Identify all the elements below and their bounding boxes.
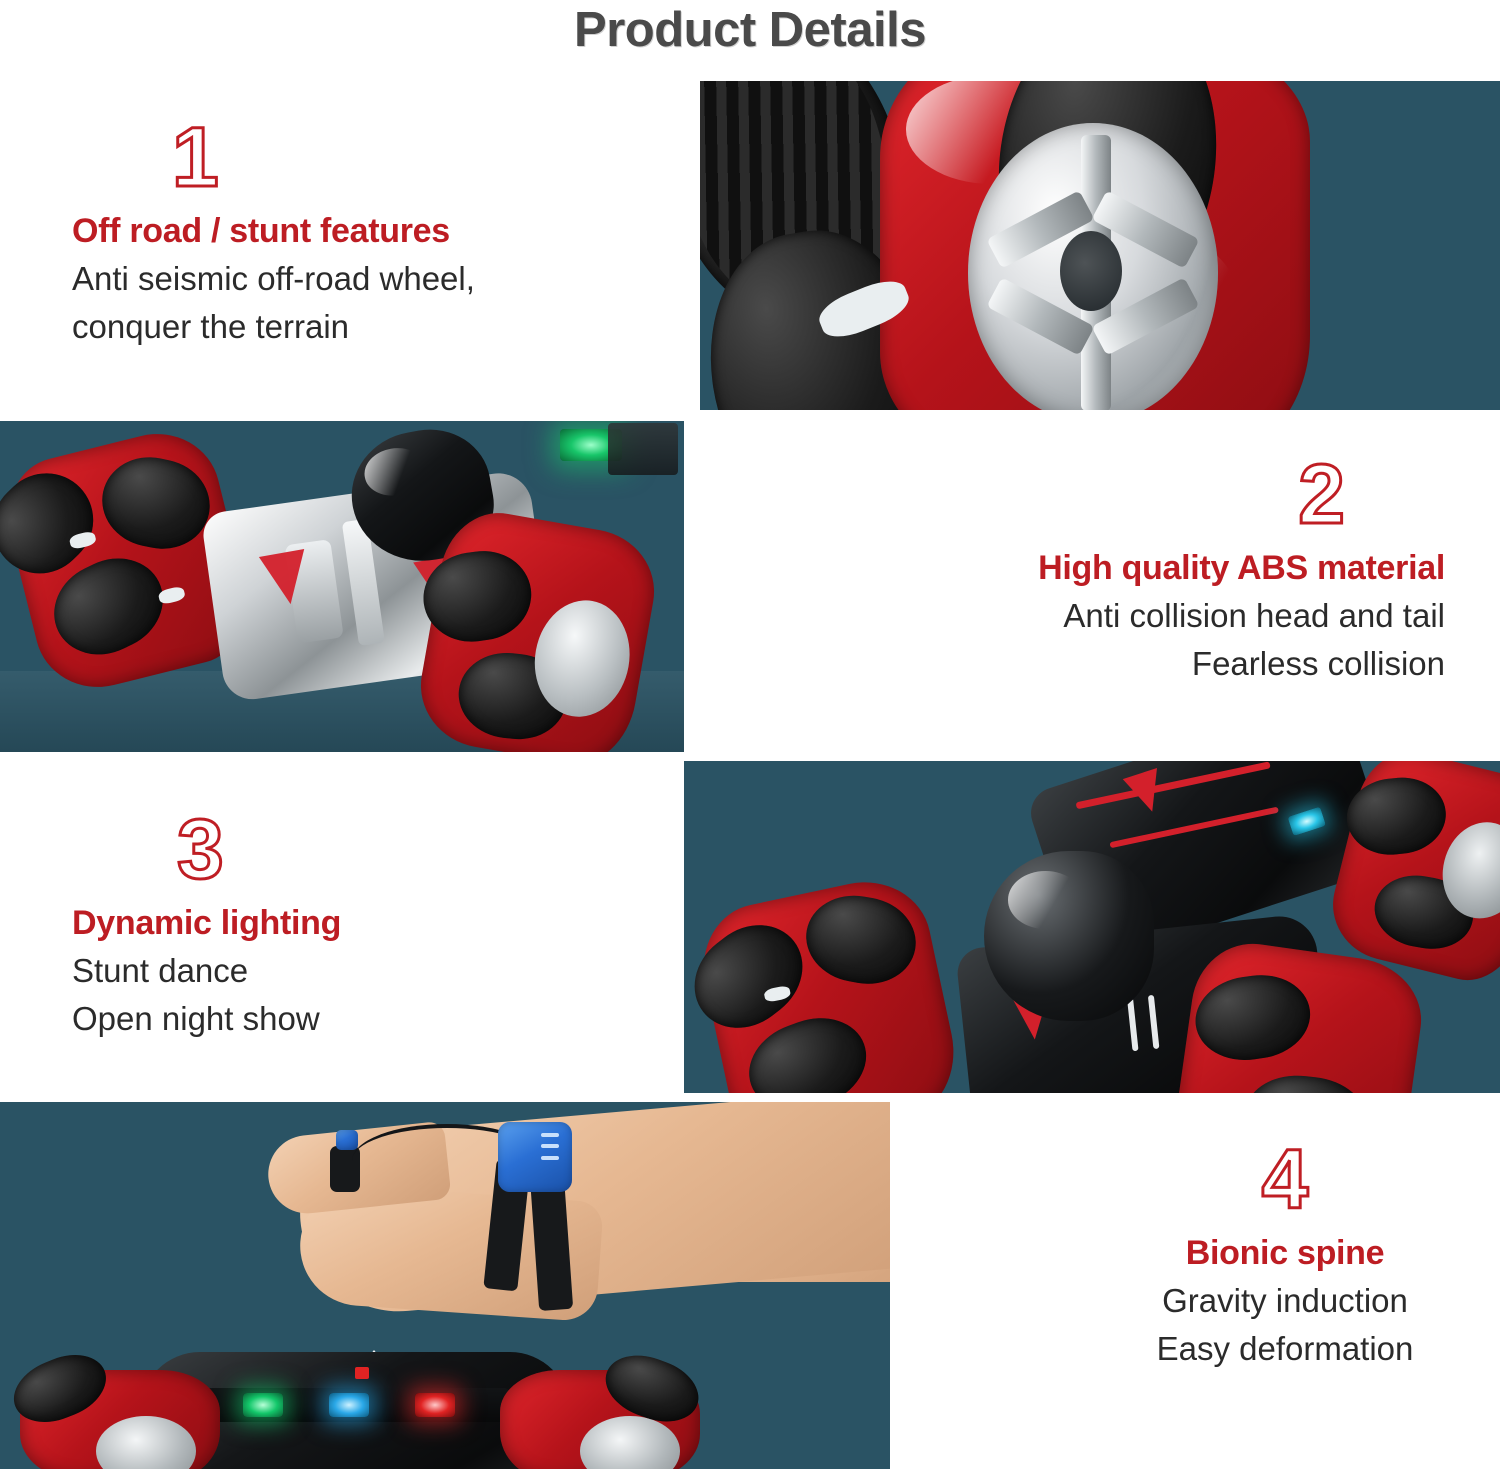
hub-center-cap — [1060, 231, 1122, 311]
white-stripe-decal — [1126, 997, 1138, 1051]
photo-wheel-closeup — [700, 81, 1500, 410]
red-arrow-decal — [1123, 768, 1170, 817]
feature-line-4-2: Easy deformation — [1085, 1329, 1485, 1369]
module-line — [541, 1156, 559, 1160]
led-red-top — [355, 1367, 369, 1379]
dome-highlight — [1008, 871, 1083, 929]
led-indicator-cyan — [1288, 806, 1327, 836]
module-line — [541, 1144, 559, 1148]
feature-heading-4: Bionic spine — [1085, 1234, 1485, 1273]
wheel-roller — [4, 1343, 115, 1434]
feature-heading-3: Dynamic lighting — [72, 904, 502, 943]
feature-number-1: 1 — [172, 118, 632, 198]
wheel-roller — [93, 448, 217, 558]
feature-line-1-1: Anti seismic off-road wheel, — [72, 259, 632, 299]
feature-line-4-1: Gravity induction — [1085, 1281, 1485, 1321]
photo-silver-stunt-car — [0, 421, 684, 752]
led-blue — [329, 1393, 369, 1417]
page-title: Product Details — [0, 2, 1500, 58]
led-red — [415, 1393, 455, 1417]
wheel-roller — [799, 888, 923, 992]
feature-line-2-1: Anti collision head and tail — [880, 596, 1445, 636]
product-details-page: Product Details — [0, 0, 1500, 1469]
car-dome-canopy — [984, 851, 1154, 1021]
wheel-roller — [1190, 969, 1315, 1067]
feature-block-3: 3 Dynamic lighting Stunt dance Open nigh… — [72, 810, 502, 1039]
led-green — [243, 1393, 283, 1417]
wheel-hub — [96, 1416, 196, 1469]
red-omni-wheel — [692, 870, 967, 1093]
red-omni-wheel — [500, 1370, 700, 1469]
feature-block-2: 2 High quality ABS material Anti collisi… — [880, 455, 1445, 684]
finger-ring-module[interactable] — [336, 1130, 358, 1150]
gesture-controller-module[interactable] — [498, 1122, 572, 1192]
feature-line-1-2: conquer the terrain — [72, 307, 632, 347]
feature-line-2-2: Fearless collision — [880, 644, 1445, 684]
canopy-highlight — [361, 443, 430, 500]
red-stripe-decal — [1076, 762, 1271, 810]
wheel-hub — [580, 1416, 680, 1469]
module-line — [541, 1133, 559, 1137]
feature-heading-2: High quality ABS material — [880, 549, 1445, 588]
red-arrow-decal — [259, 549, 313, 608]
feature-number-2: 2 — [880, 455, 1345, 535]
feature-line-3-1: Stunt dance — [72, 951, 502, 991]
feature-heading-1: Off road / stunt features — [72, 212, 632, 251]
wheel-roller — [1242, 1071, 1369, 1093]
red-omni-wheel — [20, 1370, 220, 1469]
rear-module — [608, 423, 678, 475]
photo-black-red-cars — [684, 761, 1500, 1093]
feature-block-1: 1 Off road / stunt features Anti seismic… — [72, 118, 632, 347]
photo-hand-gesture-controller — [0, 1102, 890, 1469]
feature-number-4: 4 — [1085, 1140, 1485, 1220]
feature-block-4: 4 Bionic spine Gravity induction Easy de… — [1085, 1140, 1485, 1369]
white-stripe-decal — [1148, 994, 1160, 1048]
feature-number-3: 3 — [177, 810, 502, 890]
feature-line-3-2: Open night show — [72, 999, 502, 1039]
